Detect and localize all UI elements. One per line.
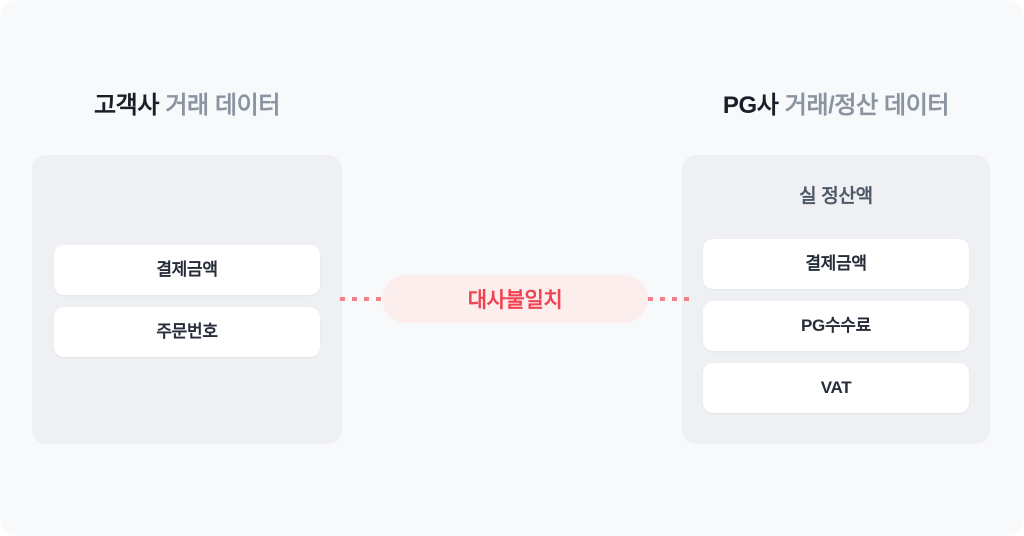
right-column-title: PG사 거래/정산 데이터 xyxy=(682,90,990,122)
right-field-list: 결제금액 PG수수료 VAT xyxy=(703,239,969,413)
left-field-list: 결제금액 주문번호 xyxy=(54,245,320,357)
field-chip-order-number[interactable]: 주문번호 xyxy=(54,307,320,357)
left-column-title: 고객사 거래 데이터 xyxy=(32,90,342,122)
pg-card-header: 실 정산액 xyxy=(703,155,969,239)
left-title-muted: 거래 데이터 xyxy=(165,92,280,119)
field-chip-pg-fee[interactable]: PG수수료 xyxy=(703,301,969,351)
field-chip-payment-amount-left[interactable]: 결제금액 xyxy=(54,245,320,295)
customer-data-card: 결제금액 주문번호 xyxy=(32,155,342,444)
mismatch-status-badge: 대사불일치 xyxy=(382,275,648,323)
diagram-canvas: 고객사 거래 데이터 PG사 거래/정산 데이터 결제금액 주문번호 실 정산액… xyxy=(0,0,1024,536)
dotted-connector-left xyxy=(340,297,384,301)
pg-data-card: 실 정산액 결제금액 PG수수료 VAT xyxy=(682,155,990,444)
dotted-connector-right xyxy=(648,297,692,301)
right-title-muted: 거래/정산 데이터 xyxy=(785,92,949,119)
left-title-strong: 고객사 xyxy=(94,92,159,119)
field-chip-payment-amount-right[interactable]: 결제금액 xyxy=(703,239,969,289)
field-chip-vat[interactable]: VAT xyxy=(703,363,969,413)
right-title-strong: PG사 xyxy=(723,92,779,119)
